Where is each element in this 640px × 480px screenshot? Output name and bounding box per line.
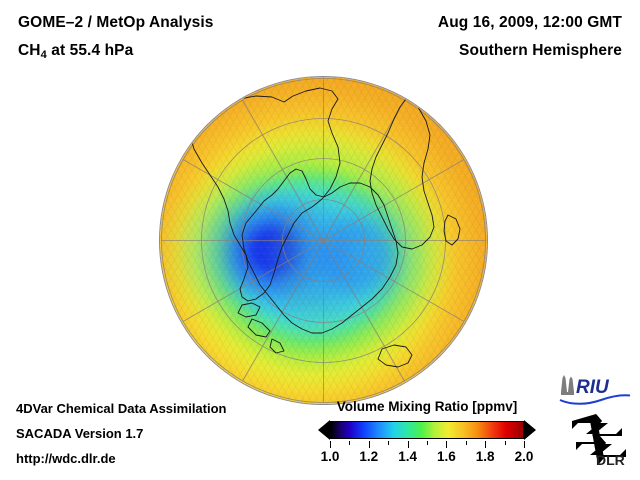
title-hemisphere: Southern Hemisphere [459,42,622,60]
colorbar-ticks [318,441,536,449]
colorbar-extend-max-icon [524,420,536,440]
colorbar-tick-label: 1.4 [398,449,417,464]
species-label: CH [18,42,41,59]
title-species-level: CH4 at 55.4 hPa [18,42,133,61]
colorbar-tick-label: 1.8 [476,449,495,464]
colorbar-gradient [330,421,524,439]
colorbar-title: Volume Mixing Ratio [ppmv] [318,399,536,414]
url-label: http://wdc.dlr.de [16,451,116,466]
colorbar-tick-major [446,441,447,448]
colorbar-tick-major [408,441,409,448]
level-label: at 55.4 hPa [47,42,134,59]
colorbar-tick-minor [505,441,506,445]
title-instrument: GOME–2 / MetOp Analysis [18,14,214,32]
colorbar-tick-major [369,441,370,448]
colorbar-tick-label: 1.2 [359,449,378,464]
globe-disc [160,77,487,404]
colorbar-tick-minor [466,441,467,445]
figure-canvas: GOME–2 / MetOp Analysis CH4 at 55.4 hPa … [0,0,640,480]
riu-wordmark: RIU [576,377,610,398]
colorbar-tick-label: 2.0 [515,449,534,464]
colorbar-tick-minor [388,441,389,445]
riu-logo: RIU [557,372,633,406]
colorbar-tick-label: 1.6 [437,449,456,464]
globe-map [160,77,487,404]
colorbar [318,419,536,441]
dlr-logo: DLR [566,412,634,468]
colorbar-tick-major [485,441,486,448]
colorbar-tick-major [524,441,525,448]
colorbar-tick-major [330,441,331,448]
colorbar-tick-labels: 1.01.21.41.61.82.0 [318,449,536,469]
colorbar-extend-min-icon [318,420,330,440]
method-label: 4DVar Chemical Data Assimilation [16,401,227,416]
colorbar-tick-label: 1.0 [321,449,340,464]
dlr-wordmark: DLR [596,452,625,468]
colorbar-tick-minor [427,441,428,445]
version-label: SACADA Version 1.7 [16,426,143,441]
limb-shading [160,77,487,404]
title-datetime: Aug 16, 2009, 12:00 GMT [438,14,622,32]
riu-spires-icon [561,375,574,395]
colorbar-tick-minor [349,441,350,445]
